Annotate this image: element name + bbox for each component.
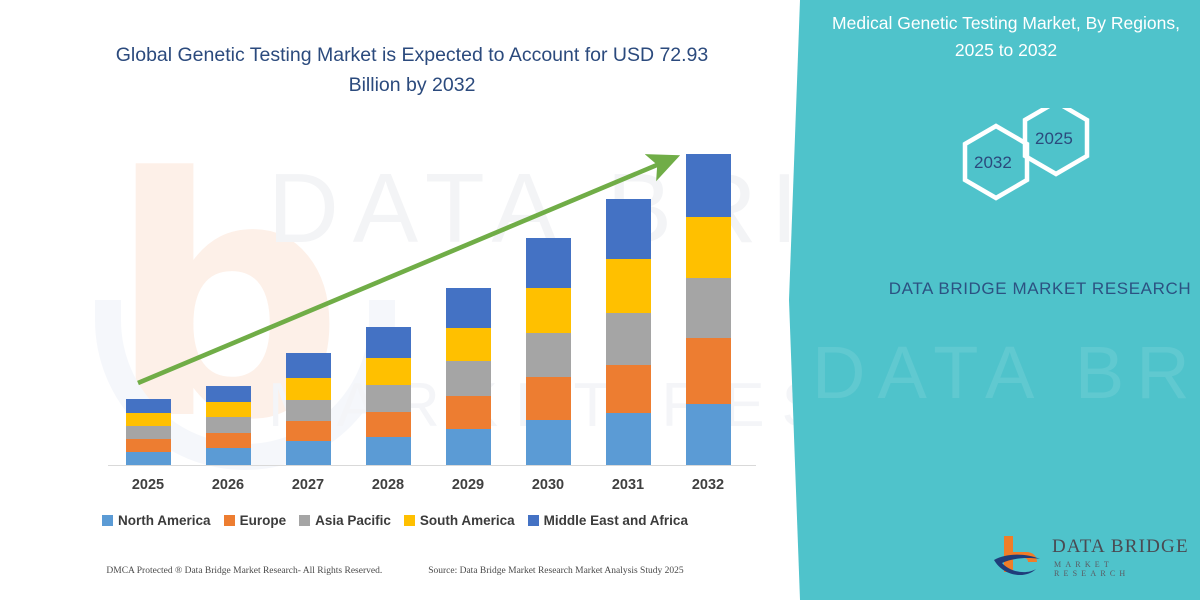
bar-segment xyxy=(206,386,251,402)
bar-2025[interactable] xyxy=(126,399,171,465)
bar-segment xyxy=(686,404,731,465)
logo-tagline: MARKET RESEARCH xyxy=(1054,560,1192,578)
bar-segment xyxy=(606,199,651,259)
bar-segment xyxy=(446,429,491,465)
x-axis-label-2026: 2026 xyxy=(188,477,268,493)
legend-label: North America xyxy=(118,513,211,528)
bar-segment xyxy=(526,238,571,288)
bar-segment xyxy=(126,452,171,465)
bar-2030[interactable] xyxy=(526,238,571,465)
bar-segment xyxy=(366,385,411,412)
bar-segment xyxy=(126,426,171,439)
bar-segment xyxy=(686,278,731,338)
bar-segment xyxy=(286,378,331,400)
x-axis-label-2032: 2032 xyxy=(668,477,748,493)
legend-item-0[interactable]: North America xyxy=(102,513,211,528)
bar-segment xyxy=(686,154,731,217)
legend-swatch-icon xyxy=(528,515,539,526)
legend-label: South America xyxy=(420,513,515,528)
bar-segment xyxy=(606,259,651,313)
bar-segment xyxy=(126,399,171,413)
hexagon-2025-label: 2025 xyxy=(1035,129,1073,149)
bar-segment xyxy=(526,288,571,333)
x-axis-label-2030: 2030 xyxy=(508,477,588,493)
x-axis-label-2027: 2027 xyxy=(268,477,348,493)
bar-segment xyxy=(126,413,171,426)
panel-brand-text: DATA BRIDGE MARKET RESEARCH xyxy=(880,276,1200,302)
bar-segment xyxy=(686,217,731,278)
bar-segment xyxy=(606,413,651,465)
bar-segment xyxy=(446,288,491,328)
bar-2028[interactable] xyxy=(366,327,411,465)
bar-segment xyxy=(446,361,491,396)
infographic-root: b DATA BRIDGE MARKET RESEARCH Global Gen… xyxy=(0,0,1200,600)
legend-item-2[interactable]: Asia Pacific xyxy=(299,513,391,528)
logo-name: DATA BRIDGE xyxy=(1052,536,1189,558)
bar-segment xyxy=(366,358,411,385)
bar-2032[interactable] xyxy=(686,154,731,465)
bar-2031[interactable] xyxy=(606,199,651,465)
bar-segment xyxy=(446,328,491,361)
x-axis-label-2031: 2031 xyxy=(588,477,668,493)
bar-segment xyxy=(206,433,251,448)
bar-segment xyxy=(526,377,571,420)
chart-legend: North AmericaEuropeAsia PacificSouth Ame… xyxy=(0,513,790,528)
legend-item-1[interactable]: Europe xyxy=(224,513,287,528)
x-axis-label-2028: 2028 xyxy=(348,477,428,493)
data-bridge-logo: DATA BRIDGE MARKET RESEARCH xyxy=(992,532,1192,584)
bars-container xyxy=(100,130,760,470)
bar-segment xyxy=(206,402,251,417)
bar-segment xyxy=(126,439,171,452)
footer: DMCA Protected ® Data Bridge Market Rese… xyxy=(0,566,790,576)
legend-item-3[interactable]: South America xyxy=(404,513,515,528)
legend-item-4[interactable]: Middle East and Africa xyxy=(528,513,688,528)
bar-segment xyxy=(286,353,331,378)
bar-segment xyxy=(526,420,571,465)
bar-segment xyxy=(606,313,651,365)
panel-title: Medical Genetic Testing Market, By Regio… xyxy=(822,10,1190,64)
bar-segment xyxy=(206,417,251,433)
bar-segment xyxy=(606,365,651,414)
footer-dmca-text: DMCA Protected ® Data Bridge Market Rese… xyxy=(106,566,382,576)
bar-2026[interactable] xyxy=(206,386,251,465)
bar-segment xyxy=(366,437,411,465)
bar-2027[interactable] xyxy=(286,353,331,465)
bar-2029[interactable] xyxy=(446,288,491,465)
bar-segment xyxy=(206,448,251,465)
bar-segment xyxy=(526,333,571,377)
bar-segment xyxy=(686,338,731,404)
legend-swatch-icon xyxy=(299,515,310,526)
bar-segment xyxy=(446,396,491,429)
hexagon-group: 2032 2025 xyxy=(925,108,1105,248)
legend-swatch-icon xyxy=(224,515,235,526)
logo-mark-icon xyxy=(992,532,1050,582)
bar-segment xyxy=(366,327,411,358)
x-axis-label-2025: 2025 xyxy=(108,477,188,493)
legend-swatch-icon xyxy=(102,515,113,526)
footer-source-text: Source: Data Bridge Market Research Mark… xyxy=(428,566,683,576)
legend-swatch-icon xyxy=(404,515,415,526)
x-axis-label-2029: 2029 xyxy=(428,477,508,493)
legend-label: Middle East and Africa xyxy=(544,513,688,528)
bar-segment xyxy=(286,400,331,421)
bar-segment xyxy=(286,421,331,441)
bar-segment xyxy=(286,441,331,465)
legend-label: Asia Pacific xyxy=(315,513,391,528)
chart-title: Global Genetic Testing Market is Expecte… xyxy=(108,40,716,100)
hexagon-2032-label: 2032 xyxy=(974,153,1012,173)
x-axis-labels: 20252026202720282029203020312032 xyxy=(100,477,760,499)
legend-label: Europe xyxy=(240,513,287,528)
bar-segment xyxy=(366,412,411,437)
